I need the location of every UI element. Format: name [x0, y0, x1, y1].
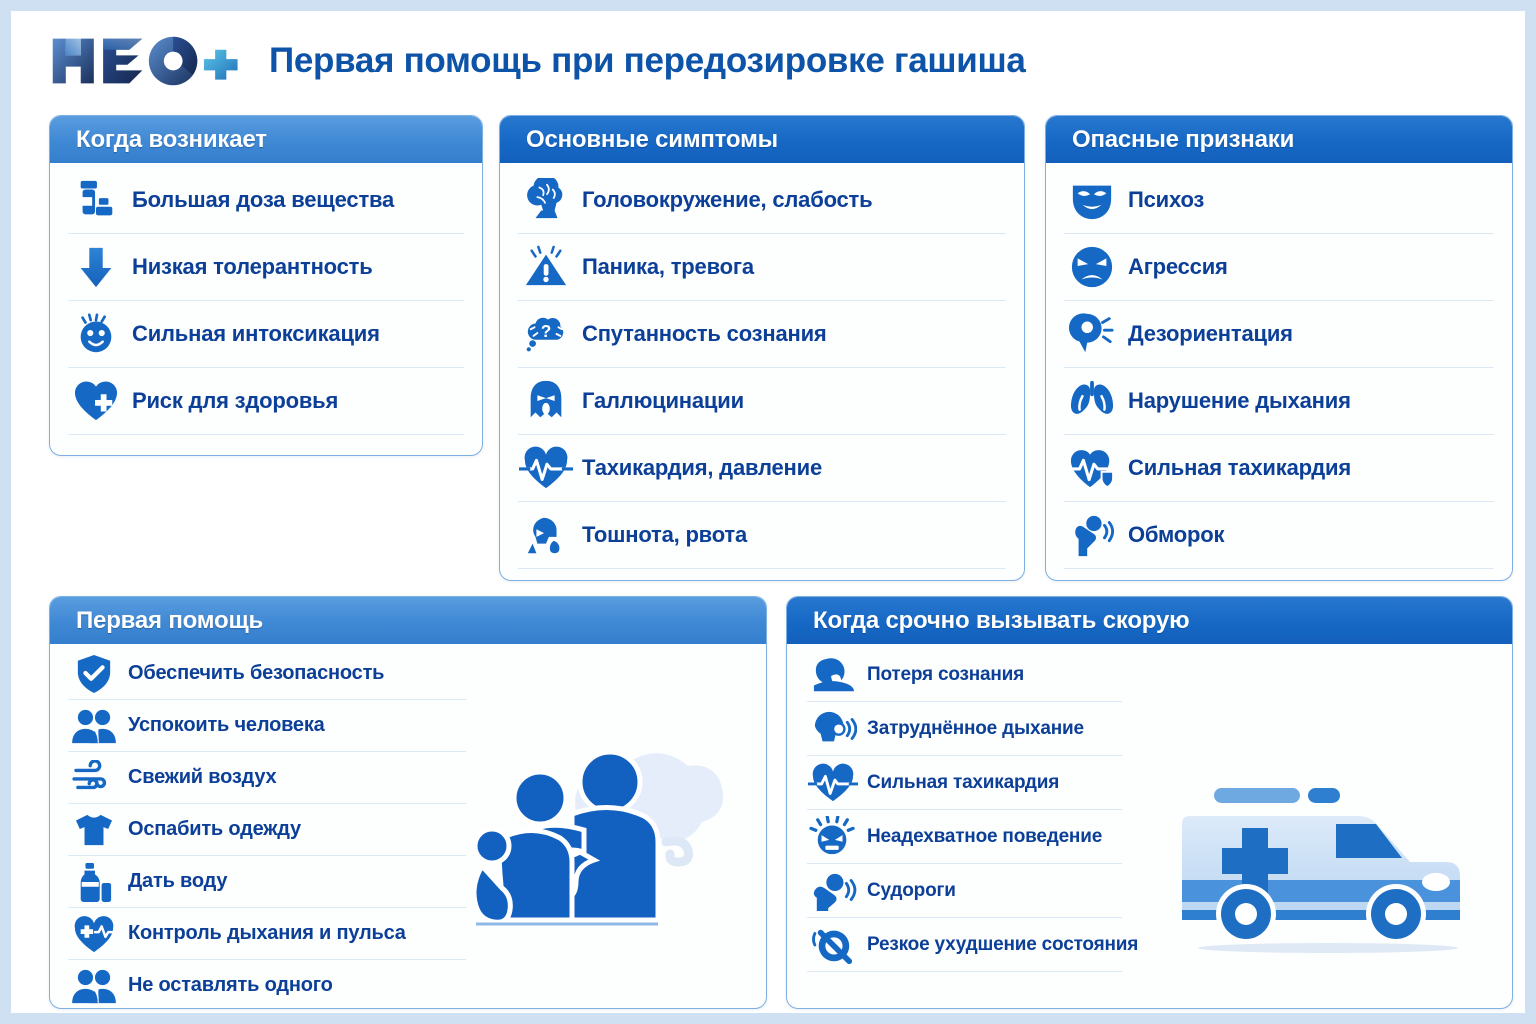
list-item-label: Затруднённое дыхание [867, 718, 1084, 740]
list-item-label: Низкая толерантность [132, 254, 373, 280]
list-item-label: Дать воду [128, 870, 227, 893]
list-item[interactable]: Паника, тревога [518, 234, 1006, 301]
neo-plus-logo [49, 33, 245, 89]
card-body-first-aid: Обеспечить безопасность Успокоить челове… [50, 644, 766, 1009]
list-item[interactable]: Резкое ухудшение состояния [807, 918, 1122, 972]
list-item[interactable]: Низкая толерантность [68, 234, 464, 301]
list-item-label: Паника, тревога [582, 254, 754, 280]
disorientation-icon [1064, 306, 1120, 362]
heart-pulse-shield-icon [1064, 440, 1120, 496]
wind-icon [68, 755, 120, 801]
agitated-face-icon [807, 813, 859, 861]
heart-pulse-icon [807, 759, 859, 807]
svg-text:?: ? [541, 321, 552, 341]
list-item[interactable]: Обморок [1064, 502, 1494, 569]
list-item-label: Обеспечить безопасность [128, 662, 384, 685]
list-item-label: Сильная тахикардия [1128, 455, 1351, 481]
seizure-icon [807, 867, 859, 915]
list-item-label: Свежий воздух [128, 766, 276, 789]
list-item[interactable]: Не оставлять одного [68, 960, 466, 1009]
list-item[interactable]: Тошнота, рвота [518, 502, 1006, 569]
sudden-worsening-icon [807, 921, 859, 969]
nausea-icon [518, 507, 574, 563]
card-title-danger-signs: Опасные признаки [1046, 116, 1512, 163]
list-item-label: Риск для здоровья [132, 388, 338, 414]
card-title-when-occurs: Когда возникает [50, 116, 482, 163]
list-item-label: Обморок [1128, 522, 1224, 548]
evil-mask-icon [1064, 172, 1120, 228]
card-call-ambulance: Когда срочно вызывать скорую Потеря созн… [786, 596, 1513, 1009]
list-item-label: Судороги [867, 880, 956, 902]
card-title-call-ambulance: Когда срочно вызывать скорую [787, 597, 1512, 644]
warning-triangle-icon [518, 239, 574, 295]
list-item-label: Агрессия [1128, 254, 1228, 280]
card-danger-signs: Опасные признаки Психоз [1045, 115, 1513, 581]
list-item-label: Дезориентация [1128, 321, 1293, 347]
unconscious-person-icon [807, 651, 859, 699]
heart-pulse-icon [518, 440, 574, 496]
confusion-cloud-icon: ? [518, 306, 574, 362]
list-item-label: Спутанность сознания [582, 321, 827, 347]
list-item[interactable]: Агрессия [1064, 234, 1494, 301]
list-item[interactable]: Потеря сознания [807, 648, 1122, 702]
list-item-label: Нарушение дыхания [1128, 388, 1351, 414]
list-item-label: Оспабить одежду [128, 818, 301, 841]
card-body-main-symptoms: Головокружение, слабость Паника, тревога [500, 163, 1024, 577]
breathing-difficulty-icon [807, 705, 859, 753]
page-header: Первая помощь при передозировке гашиша [49, 25, 1026, 97]
list-item-label: Большая доза вещества [132, 187, 394, 213]
list-item-label: Успокоить человека [128, 714, 325, 737]
list-item[interactable]: Дезориентация [1064, 301, 1494, 368]
list-item[interactable]: Судороги [807, 864, 1122, 918]
pill-bottle-icon [68, 172, 124, 228]
card-body-danger-signs: Психоз Агрессия [1046, 163, 1512, 577]
list-item[interactable]: Сильная тахикардия [807, 756, 1122, 810]
card-title-main-symptoms: Основные симптомы [500, 116, 1024, 163]
list-item[interactable]: Сильная тахикардия [1064, 435, 1494, 502]
heart-cross-icon [68, 373, 124, 429]
list-item[interactable]: Оспабить одежду [68, 804, 466, 856]
list-item-label: Сильная тахикардия [867, 772, 1059, 794]
list-item-label: Психоз [1128, 187, 1204, 213]
water-bottle-icon [68, 859, 120, 905]
card-first-aid: Первая помощь Обеспечить безопасность [49, 596, 767, 1009]
shield-check-icon [68, 651, 120, 697]
list-item-label: Галлюцинации [582, 388, 744, 414]
list-item-label: Головокружение, слабость [582, 187, 872, 213]
list-item[interactable]: Нарушение дыхания [1064, 368, 1494, 435]
angry-face-icon [1064, 239, 1120, 295]
list-item[interactable]: Успокоить человека [68, 700, 466, 752]
page-title: Первая помощь при передозировке гашиша [269, 41, 1026, 81]
two-people-icon [68, 963, 120, 1009]
list-item[interactable]: Свежий воздух [68, 752, 466, 804]
list-item-label: Тошнота, рвота [582, 522, 747, 548]
card-body-call-ambulance: Потеря сознания Затруднённое дыхание [787, 644, 1512, 980]
lungs-icon [1064, 373, 1120, 429]
brain-icon [518, 172, 574, 228]
list-item[interactable]: Неадехватное поведение [807, 810, 1122, 864]
list-item[interactable]: Контроль дыхания и пульса [68, 908, 466, 960]
list-item[interactable]: Психоз [1064, 167, 1494, 234]
list-item[interactable]: Большая доза вещества [68, 167, 464, 234]
list-item[interactable]: Головокружение, слабость [518, 167, 1006, 234]
tshirt-icon [68, 807, 120, 853]
list-item-label: Потеря сознания [867, 664, 1024, 686]
list-item-label: Неадехватное поведение [867, 826, 1102, 848]
list-item[interactable]: Сильная интоксикация [68, 301, 464, 368]
infographic-page: Первая помощь при передозировке гашиша К… [11, 11, 1525, 1013]
list-item-label: Сильная интоксикация [132, 321, 380, 347]
list-item-label: Резкое ухудшение состояния [867, 934, 1138, 956]
list-item-label: Контроль дыхания и пульса [128, 922, 406, 945]
list-item[interactable]: Галлюцинации [518, 368, 1006, 435]
list-item[interactable]: ? Спутанность сознания [518, 301, 1006, 368]
ghost-icon [518, 373, 574, 429]
fainting-icon [1064, 507, 1120, 563]
list-item[interactable]: Тахикардия, давление [518, 435, 1006, 502]
card-when-occurs: Когда возникает Большая доза вещества [49, 115, 483, 456]
two-people-icon [68, 703, 120, 749]
heart-cross-pulse-icon [68, 911, 120, 957]
list-item-label: Не оставлять одного [128, 974, 333, 997]
list-item[interactable]: Обеспечить безопасность [68, 648, 466, 700]
down-arrow-icon [68, 239, 124, 295]
card-title-first-aid: Первая помощь [50, 597, 766, 644]
list-item[interactable]: Риск для здоровья [68, 368, 464, 435]
list-item-label: Тахикардия, давление [582, 455, 822, 481]
dizzy-face-icon [68, 306, 124, 362]
card-body-when-occurs: Большая доза вещества Низкая толерантнос… [50, 163, 482, 443]
list-item[interactable]: Дать воду [68, 856, 466, 908]
list-item[interactable]: Затруднённое дыхание [807, 702, 1122, 756]
card-main-symptoms: Основные симптомы Головокружение, слабос… [499, 115, 1025, 581]
